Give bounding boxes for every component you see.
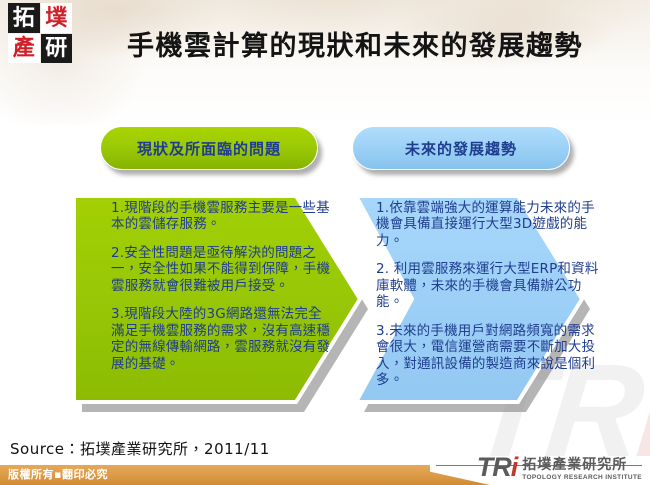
panel-future-trend: 1.依靠雲端強大的運算能力未來的手機會具備直接運行大型3D遊戲的能力。 2. 利… [352,188,650,426]
list-item: 1.現階段的手機雲服務主要是一些基本的雲儲存服務。 [111,200,333,233]
source-note: Source：拓墣產業研究所，2011/11 [10,438,270,459]
panel-body-future-trend: 1.依靠雲端強大的運算能力未來的手機會具備直接運行大型3D遊戲的能力。 2. 利… [376,200,604,401]
list-item: 2. 利用雲服務來運行大型ERP和資料庫軟體，未來的手機會具備辦公功能。 [376,261,604,310]
brand-lockup: TRi 拓墣產業研究所 TOPOLOGY RESEARCH INSTITUTE [477,454,642,481]
tri-wordmark: TRi [477,454,518,481]
logo-char-2: 墣 [41,3,73,33]
column-header-future-trend[interactable]: 未來的發展趨勢 [352,126,570,170]
list-item: 1.依靠雲端強大的運算能力未來的手機會具備直接運行大型3D遊戲的能力。 [376,200,604,249]
list-item: 2.安全性問題是亟待解決的問題之一，安全性如果不能得到保障，手機雲服務就會很難被… [111,245,333,294]
logo-char-1: 拓 [8,3,40,33]
panel-body-current-status: 1.現階段的手機雲服務主要是一些基本的雲儲存服務。 2.安全性問題是亟待解決的問… [111,200,333,384]
brand-name-cn: 拓墣產業研究所 [522,458,627,473]
list-item: 3.未來的手機用戶對網路頻寬的需求會很大，電信運營商需要不斷加大投入，對通訊設備… [376,323,604,389]
brand-names: 拓墣產業研究所 TOPOLOGY RESEARCH INSTITUTE [522,458,642,481]
logo-char-4: 研 [41,34,73,64]
slide-canvas: TRi 拓 墣 產 研 手機雲計算的現狀和未來的發展趨勢 現狀及所面臨的問題 未… [0,0,650,485]
list-item: 3.現階段大陸的3G網路還無法完全滿足手機雲服務的需求，沒有高速穩定的無線傳輸網… [111,306,333,372]
page-title: 手機雲計算的現狀和未來的發展趨勢 [105,20,605,66]
brand-name-en: TOPOLOGY RESEARCH INSTITUTE [522,474,642,481]
logo-char-3: 產 [8,34,40,64]
company-logo: 拓 墣 產 研 [8,3,72,63]
column-header-current-status[interactable]: 現狀及所面臨的問題 [100,126,318,170]
panel-current-status: 1.現階段的手機雲服務主要是一些基本的雲儲存服務。 2.安全性問題是亟待解決的問… [66,188,368,426]
copyright-text: 版權所有▪翻印必究 [8,466,108,482]
